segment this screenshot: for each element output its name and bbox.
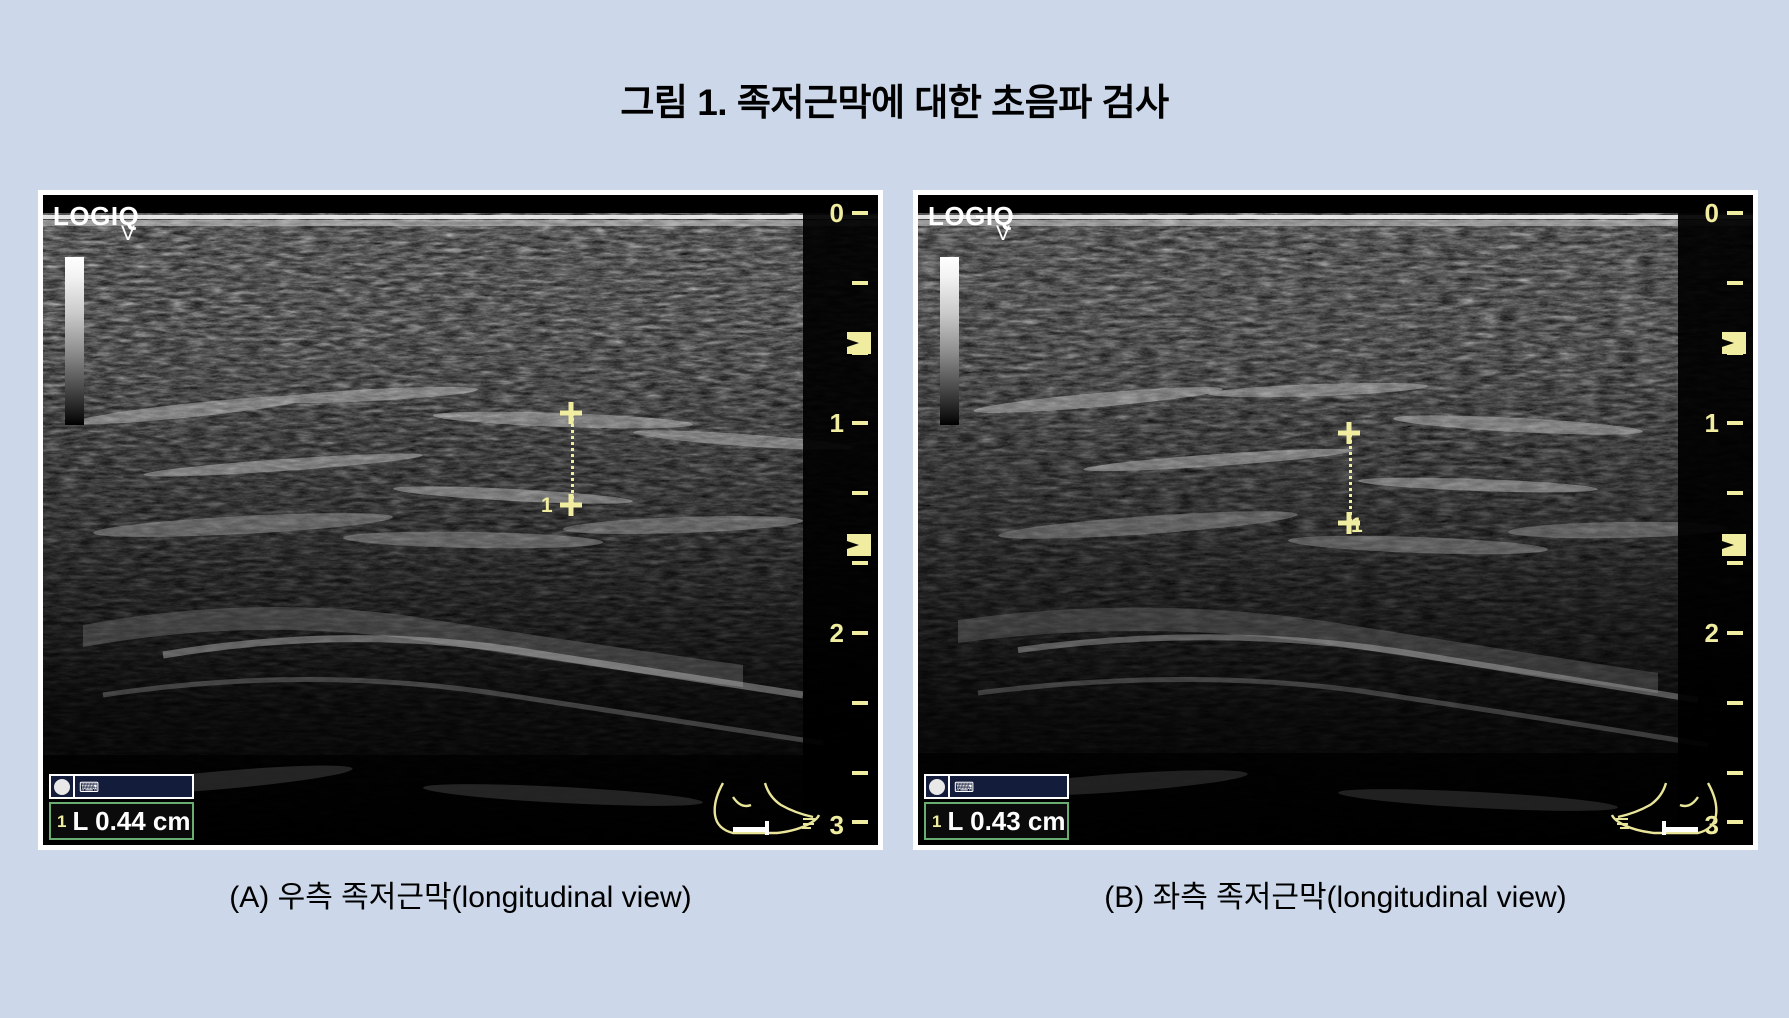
depth-tick: [1727, 211, 1743, 215]
caliper-index-label: 1: [1351, 515, 1363, 536]
panel-caption-a: (A) 우측 족저근막(longitudinal view): [38, 872, 883, 916]
depth-label-2: 2: [830, 620, 844, 646]
status-box-b[interactable]: ⌨: [924, 774, 1069, 799]
caliper-line: [1349, 433, 1352, 523]
depth-tick: [1727, 771, 1743, 775]
measurement-box-b[interactable]: 1 L 0.43 cm: [924, 802, 1069, 840]
page-title: 그림 1. 족저근막에 대한 초음파 검사: [0, 72, 1789, 126]
circle-icon: [929, 779, 945, 795]
depth-label-2: 2: [1705, 620, 1719, 646]
depth-tick: [1727, 701, 1743, 705]
depth-label-1: 1: [830, 410, 844, 436]
foot-body-marker-a: [703, 775, 823, 845]
caliper-crosshair-top[interactable]: [560, 402, 582, 424]
logiq-logo: LOGIQ V: [928, 203, 1014, 229]
depth-scale-a: 0 1 2 3: [818, 195, 878, 845]
depth-tick: [1727, 491, 1743, 495]
logiq-logo: LOGIQ V: [53, 203, 139, 229]
measurement-value: L 0.44 cm: [72, 808, 190, 834]
measurement-value: L 0.43 cm: [947, 808, 1065, 834]
grayscale-bar: [940, 257, 959, 425]
focal-zone-marker: [846, 331, 872, 355]
depth-tick: [1727, 421, 1743, 425]
depth-tick: [852, 701, 868, 705]
depth-tick: [852, 281, 868, 285]
depth-tick: [852, 211, 868, 215]
status-box-a[interactable]: ⌨: [49, 774, 194, 799]
ultrasound-image-a: [43, 195, 878, 845]
focal-zone-marker: [1721, 533, 1747, 557]
focal-zone-marker: [846, 533, 872, 557]
ultrasound-image-b: [918, 195, 1753, 845]
depth-tick: [1727, 281, 1743, 285]
foot-body-marker-b: [1608, 775, 1728, 845]
probe-cursor-icon: ⌨: [79, 780, 99, 794]
depth-tick: [852, 820, 868, 824]
divider: [948, 776, 950, 797]
depth-label-0: 0: [1705, 200, 1719, 226]
caliper-measurement-a[interactable]: 1: [559, 413, 583, 505]
depth-tick: [852, 561, 868, 565]
depth-tick: [1727, 820, 1743, 824]
caliper-crosshair-top[interactable]: [1338, 422, 1360, 444]
probe-cursor-icon: ⌨: [954, 780, 974, 794]
depth-tick: [852, 771, 868, 775]
measurement-box-a[interactable]: 1 L 0.44 cm: [49, 802, 194, 840]
measurement-index: 1: [932, 813, 941, 830]
ultrasound-panel-b[interactable]: LOGIQ V 0 1 2 3 1: [913, 190, 1758, 850]
depth-tick: [852, 631, 868, 635]
logo-subtext: V: [996, 223, 1011, 244]
circle-icon: [54, 779, 70, 795]
measurement-index: 1: [57, 813, 66, 830]
divider: [73, 776, 75, 797]
depth-label-1: 1: [1705, 410, 1719, 436]
depth-label-3: 3: [830, 812, 844, 838]
logo-subtext: V: [121, 223, 136, 244]
caliper-line: [571, 413, 574, 505]
ultrasound-panel-a[interactable]: LOGIQ V 0 1 2 3 1: [38, 190, 883, 850]
depth-tick: [852, 491, 868, 495]
depth-scale-b: 0 1 2 3: [1693, 195, 1753, 845]
panel-caption-b: (B) 좌측 족저근막(longitudinal view): [913, 872, 1758, 916]
depth-tick: [1727, 631, 1743, 635]
caliper-measurement-b[interactable]: 1: [1337, 433, 1361, 523]
grayscale-bar: [65, 257, 84, 425]
caliper-index-label: 1: [541, 495, 553, 516]
depth-label-0: 0: [830, 200, 844, 226]
focal-zone-marker: [1721, 331, 1747, 355]
caliper-crosshair-bottom[interactable]: [560, 494, 582, 516]
depth-tick: [1727, 561, 1743, 565]
depth-tick: [852, 421, 868, 425]
